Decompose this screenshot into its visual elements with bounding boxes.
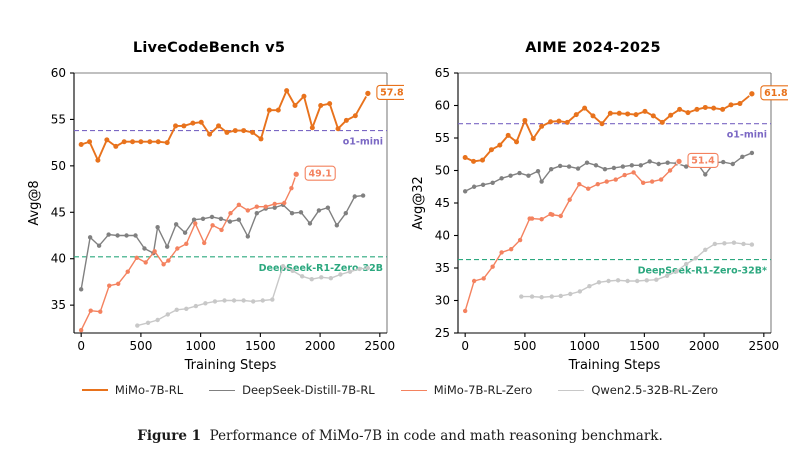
series-point [152,249,156,253]
series-point [703,172,707,176]
series-point [327,101,332,106]
series-point [192,218,196,222]
y-tick-label: 40 [435,229,450,243]
series-point [625,279,629,283]
series-point [210,223,214,227]
plot-area-right: 05001000150020002500253035404550556065Tr… [398,18,788,373]
series-point [255,211,259,215]
series-point [548,119,553,124]
series-point [576,166,580,170]
series-point [255,205,259,209]
series-point [97,244,101,248]
series-line-mimo-7b-rl-zero [81,174,296,330]
series-point [161,262,165,266]
series-point [641,181,645,185]
series-line-mimo-7b-rl-zero [465,161,679,311]
series-point [668,113,673,118]
series-point [222,298,226,302]
series-point [142,246,146,250]
series-point [202,241,206,245]
plot-area-left: 05001000150020002500354045505560Training… [14,18,404,373]
series-point [135,256,139,260]
series-point [155,225,159,229]
series-point [224,130,229,135]
y-tick-label: 55 [435,131,450,145]
series-point [300,274,304,278]
series-point [348,270,352,274]
series-point [590,113,595,118]
series-point [684,262,688,266]
series-point [219,228,223,232]
series-point [130,139,135,144]
value-annotation: 49.1 [293,166,335,180]
series-point [232,298,236,302]
series-point [582,106,587,111]
legend-line-swatch [209,390,235,391]
series-point [703,248,707,252]
series-point [258,136,263,141]
series-point [281,264,285,268]
reference-line-label: o1-mini [343,137,383,148]
series-point [175,308,179,312]
series-point [499,176,503,180]
value-annotation: 61.8 [749,86,788,100]
series-point [606,279,610,283]
series-point [308,221,312,225]
series-line-qwen2-5-32b-rl-zero [137,266,368,325]
series-point [642,109,647,114]
legend-item-label: MiMo-7B-RL [115,383,183,397]
series-point [539,295,543,299]
series-point [694,256,698,260]
series-point [353,194,357,198]
x-tick-label: 2000 [689,339,720,353]
legend-item-label: MiMo-7B-RL-Zero [434,383,533,397]
series-point [594,163,598,167]
figure-caption-text: Performance of MiMo-7B in code and math … [210,428,663,444]
series-point [183,231,187,235]
series-point [87,139,92,144]
series-point [750,242,754,246]
series-point [549,167,553,171]
series-point [126,270,130,274]
y-axis-label: Avg@32 [411,176,426,230]
series-point [250,130,255,135]
legend-item: MiMo-7B-RL [82,383,183,397]
series-point [290,211,294,215]
series-point [720,107,725,112]
series-point [612,166,616,170]
x-tick-label: 2000 [305,339,336,353]
y-tick-label: 25 [435,326,450,340]
series-point [550,294,554,298]
series-point [490,265,494,269]
series-point [621,164,625,168]
series-point [344,211,348,215]
series-point [568,292,572,296]
y-tick-label: 35 [51,298,66,312]
series-point [731,162,735,166]
series-point [310,125,315,130]
y-tick-label: 60 [51,66,66,80]
series-point [625,111,630,116]
series-point [165,140,170,145]
series-point [630,163,634,167]
x-tick-label: 0 [77,339,85,353]
series-point [508,174,512,178]
series-point [237,203,241,207]
series-point [95,158,100,163]
series-point [603,167,607,171]
series-point [463,155,468,160]
series-point [472,185,476,189]
series-point [617,111,622,116]
series-point [184,242,188,246]
series-point [293,103,298,108]
y-tick-label: 55 [51,112,66,126]
series-point [519,294,523,298]
x-tick-label: 500 [129,339,152,353]
series-point [241,128,246,133]
series-point [530,216,534,220]
x-tick-label: 1000 [185,339,216,353]
series-point [353,113,358,118]
series-point [497,143,502,148]
series-point [635,279,639,283]
series-point [156,139,161,144]
series-point [357,267,361,271]
annotation-marker [365,90,371,96]
series-point [599,121,604,126]
y-tick-label: 35 [435,261,450,275]
series-point [506,133,511,138]
series-point [282,201,286,205]
series-point [597,280,601,284]
series-point [711,106,716,111]
y-tick-label: 30 [435,294,450,308]
series-point [530,294,534,298]
series-point [463,189,467,193]
series-point [568,198,572,202]
series-point [587,284,591,288]
x-tick-label: 1500 [629,339,660,353]
series-point [674,269,678,273]
annotation-value: 49.1 [308,168,331,179]
series-point [565,120,570,125]
series-point [326,205,330,209]
series-point [289,186,293,190]
series-point [539,124,544,129]
series-point [276,108,281,113]
series-point [622,173,626,177]
series-point [166,312,170,316]
legend-line-swatch [558,390,584,391]
series-point [677,107,682,112]
y-tick-label: 60 [435,99,450,113]
series-point [685,110,690,115]
series-line-mimo-7b-rl [81,91,368,161]
series-point [750,151,754,155]
series-point [522,118,527,123]
series-point [124,233,128,237]
x-axis-label: Training Steps [184,358,277,373]
y-tick-label: 45 [435,196,450,210]
series-point [175,246,179,250]
x-axis-label: Training Steps [568,358,661,373]
series-point [574,112,579,117]
series-line-mimo-7b-rl [465,94,752,162]
series-point [284,88,289,93]
series-point [133,233,137,237]
series-point [366,266,370,270]
series-point [319,275,323,279]
series-point [559,214,563,218]
x-tick-label: 0 [461,339,469,353]
series-point [233,128,238,133]
series-point [648,159,652,163]
series-point [184,307,188,311]
series-point [115,233,119,237]
series-point [79,142,84,147]
series-point [741,242,745,246]
y-tick-label: 50 [435,164,450,178]
series-point [539,179,543,183]
series-point [199,120,204,125]
series-point [639,163,643,167]
series-point [531,136,536,141]
series-point [194,304,198,308]
series-point [481,183,485,187]
series-point [645,278,649,282]
series-point [335,223,339,227]
series-point [79,287,83,291]
series-point [181,123,186,128]
series-point [116,282,120,286]
series-point [489,147,494,152]
series-point [113,144,118,149]
series-point [651,113,656,118]
reference-line-label: DeepSeek-R1-Zero-32B* [638,266,767,277]
series-point [577,182,581,186]
chart-panel-livecodebench: LiveCodeBench v5 05001000150020002500354… [14,18,404,373]
series-point [173,123,178,128]
y-tick-label: 65 [435,66,450,80]
series-point [203,301,207,305]
series-point [270,297,274,301]
series-point [79,328,83,332]
x-tick-label: 2500 [749,339,780,353]
series-point [472,279,476,283]
series-point [143,260,147,264]
series-point [694,107,699,112]
series-point [634,112,639,117]
series-point [219,217,223,221]
series-point [605,179,609,183]
series-point [665,274,669,278]
series-point [713,242,717,246]
series-point [463,309,467,313]
reference-line-label: o1-mini [727,130,767,141]
annotation-marker [293,171,299,177]
series-point [556,119,561,124]
series-point [737,101,742,106]
series-point [361,193,365,197]
series-point [740,155,744,159]
series-point [660,120,665,125]
legend-item: DeepSeek-Distill-7B-RL [209,383,375,397]
series-point [107,283,111,287]
x-tick-label: 1500 [245,339,276,353]
series-point [261,298,265,302]
series-point [517,171,521,175]
y-tick-label: 40 [51,252,66,266]
series-point [659,177,663,181]
series-point [578,289,582,293]
series-point [650,179,654,183]
series-point [338,272,342,276]
y-tick-label: 45 [51,205,66,219]
series-point [201,217,205,221]
series-point [318,103,323,108]
series-point [193,221,197,225]
x-tick-label: 1000 [569,339,600,353]
series-point [174,222,178,226]
series-point [317,208,321,212]
series-point [596,182,600,186]
series-point [166,258,170,262]
series-point [228,219,232,223]
series-point [728,102,733,107]
series-point [526,174,530,178]
series-point [210,215,214,219]
series-point [558,164,562,168]
series-point [301,94,306,99]
series-point [616,278,620,282]
series-point [471,159,476,164]
series-point [514,139,519,144]
series-point [509,247,513,251]
series-point [246,208,250,212]
series-point [567,164,571,168]
series-point [585,161,589,165]
series-point [237,218,241,222]
series-point [550,213,554,217]
series-point [631,170,635,174]
series-point [299,210,303,214]
series-point [481,276,485,280]
series-point [518,238,522,242]
series-point [104,137,109,142]
figure-root: LiveCodeBench v5 05001000150020002500354… [0,0,800,467]
annotation-marker [749,91,755,97]
annotation-value: 61.8 [764,88,788,99]
series-point [344,118,349,123]
series-point [329,276,333,280]
series-point [88,235,92,239]
series-point [241,298,245,302]
legend-item: Qwen2.5-32B-RL-Zero [558,383,718,397]
series-point [336,126,341,131]
series-point [146,321,150,325]
series-point [228,211,232,215]
legend-line-swatch [82,389,108,391]
y-tick-label: 50 [51,159,66,173]
legend-line-swatch [401,390,427,391]
chart-panel-aime: AIME 2024-2025 0500100015002000250025303… [398,18,788,373]
series-point [586,187,590,191]
series-point [251,299,255,303]
series-point [657,162,661,166]
series-point [559,294,563,298]
legend-item-label: DeepSeek-Distill-7B-RL [242,383,375,397]
annotation-marker [676,158,682,164]
series-point [207,132,212,137]
series-point [290,269,294,273]
x-tick-label: 500 [513,339,536,353]
series-point [190,121,195,126]
series-point [310,277,314,281]
chart-legend: MiMo-7B-RLDeepSeek-Distill-7B-RLMiMo-7B-… [0,378,800,402]
figure-caption: Figure 1 Performance of MiMo-7B in code … [0,428,800,444]
series-point [246,234,250,238]
series-point [98,309,102,313]
series-point [122,139,127,144]
series-point [654,278,658,282]
series-point [216,123,221,128]
series-point [665,161,669,165]
series-point [732,240,736,244]
series-point [89,309,93,313]
annotation-value: 51.4 [691,156,715,167]
figure-caption-label: Figure 1 [137,428,201,444]
legend-item-label: Qwen2.5-32B-RL-Zero [591,383,718,397]
series-point [155,318,159,322]
series-point [147,139,152,144]
series-point [722,241,726,245]
y-axis-label: Avg@8 [27,180,42,225]
series-point [668,168,672,172]
series-point [273,202,277,206]
series-point [264,205,268,209]
series-point [267,108,272,113]
series-point [138,139,143,144]
series-point [536,169,540,173]
series-point [490,181,494,185]
series-point [213,299,217,303]
legend-item: MiMo-7B-RL-Zero [401,383,533,397]
series-point [480,158,485,163]
series-point [721,160,725,164]
series-point [539,217,543,221]
series-point [703,105,708,110]
series-point [613,177,617,181]
series-point [608,111,613,116]
series-point [499,250,503,254]
series-point [106,232,110,236]
x-tick-label: 2500 [365,339,396,353]
series-point [135,323,139,327]
series-point [165,244,169,248]
